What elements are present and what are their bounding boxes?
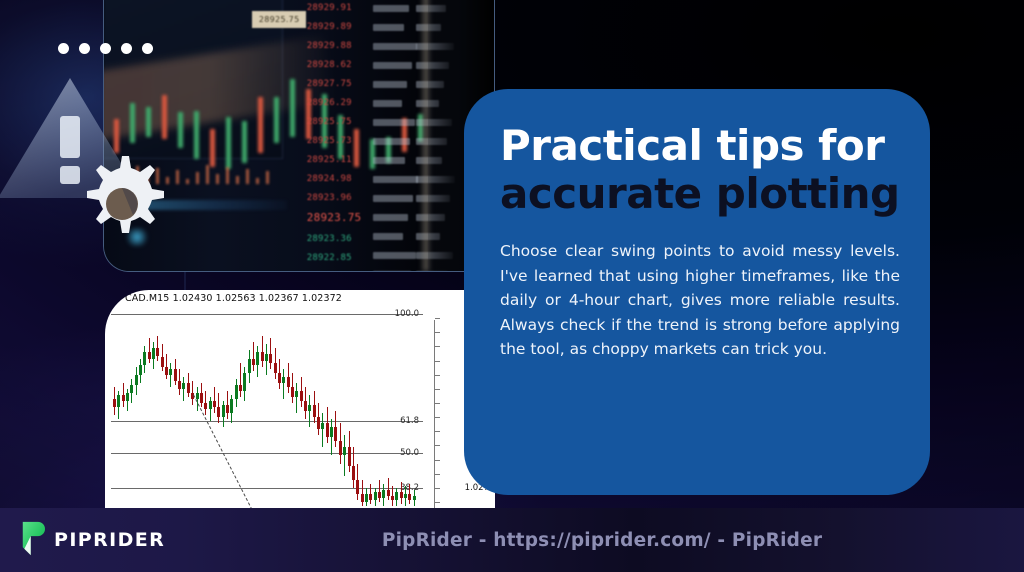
orderbook-size-cell [373, 195, 413, 202]
orderbook-ask-price: 28929.89 [307, 22, 352, 33]
orderbook-last-price: 28923.75 [307, 212, 362, 223]
candle-body [365, 494, 368, 502]
candle-wick [322, 413, 323, 447]
orderbook-ask-price: 28926.29 [307, 98, 352, 109]
candlestick [374, 306, 377, 508]
decorative-dot [121, 43, 132, 54]
candle-body [235, 385, 238, 399]
photo-volume-bar [186, 179, 189, 184]
candle-wick [183, 377, 184, 401]
candle-body [413, 496, 416, 500]
orderbook-size-cell [373, 119, 415, 126]
photo-candle [354, 129, 359, 167]
candlestick [348, 306, 351, 508]
candle-body [274, 363, 277, 373]
orderbook-size-cell [373, 5, 409, 12]
candlestick [352, 306, 355, 508]
tips-content-card: Practical tips for accurate plotting Cho… [464, 89, 930, 495]
candle-body [356, 480, 359, 494]
candlestick [135, 306, 138, 508]
candlestick [248, 306, 251, 508]
axis-tick [435, 403, 440, 404]
candle-wick [170, 363, 171, 387]
candlestick [313, 306, 316, 508]
chart-plot-area: 100.061.850.038.2 1.027 [105, 306, 495, 508]
photo-volume-bar [206, 165, 209, 184]
candle-body [330, 427, 333, 437]
candle-body [204, 403, 207, 409]
candle-body [400, 492, 403, 498]
candlestick [169, 306, 172, 508]
candlestick [408, 306, 411, 508]
candlestick [378, 306, 381, 508]
orderbook-size-cell [373, 252, 416, 259]
candlestick [274, 306, 277, 508]
candlestick [165, 306, 168, 508]
candle-wick [197, 387, 198, 411]
orderbook-bid-price: 28923.36 [307, 234, 352, 245]
candlestick [256, 306, 259, 508]
candlestick [239, 306, 242, 508]
orderbook-size-cell [373, 43, 417, 50]
candlestick [361, 306, 364, 508]
orderbook-ask-price: 28923.96 [307, 193, 352, 204]
candlestick [143, 306, 146, 508]
candlestick [252, 306, 255, 508]
candlestick [209, 306, 212, 508]
candlestick [404, 306, 407, 508]
candlestick [126, 306, 129, 508]
candle-wick [309, 395, 310, 427]
orderbook-ask-price: 28929.88 [307, 41, 352, 52]
candle-body [352, 466, 355, 480]
photo-volume-bar [216, 174, 219, 184]
candlestick [365, 306, 368, 508]
candle-body [408, 494, 411, 500]
axis-tick [435, 346, 440, 347]
candlestick [356, 306, 359, 508]
candle-body [122, 395, 125, 401]
candle-body [348, 447, 351, 465]
candlestick [330, 306, 333, 508]
decorative-dots [58, 43, 153, 54]
candlestick [287, 306, 290, 508]
candlestick [113, 306, 116, 508]
decorative-dot [142, 43, 153, 54]
orderbook-size-cell [373, 62, 412, 69]
candlestick [261, 306, 264, 508]
candle-body [156, 348, 159, 356]
photo-volume-bar [246, 169, 249, 184]
candle-body [256, 352, 259, 364]
fibonacci-chart-card: CAD.M15 1.02430 1.02563 1.02367 1.02372 … [105, 290, 495, 508]
candle-body [265, 354, 268, 360]
candlestick [334, 306, 337, 508]
candlestick [391, 306, 394, 508]
photo-candle [146, 107, 151, 137]
candle-body [374, 492, 377, 500]
orderbook-ask-price: 28927.75 [307, 79, 352, 90]
photo-candle [162, 95, 167, 139]
candle-wick [283, 369, 284, 399]
candle-wick [270, 338, 271, 368]
orderbook-size-cell [373, 214, 408, 221]
orderbook-ask-price: 28928.62 [307, 60, 352, 71]
axis-tick [435, 488, 440, 489]
axis-tick [435, 445, 440, 446]
axis-tick [435, 318, 440, 319]
orderbook-size-cell [373, 233, 403, 240]
decorative-dot [58, 43, 69, 54]
candlestick [122, 306, 125, 508]
orderbook-bid-price: 28922.85 [307, 253, 352, 264]
candle-body [213, 401, 216, 407]
candlestick [130, 306, 133, 508]
candle-body [230, 399, 233, 413]
orderbook-size-cell [416, 271, 448, 272]
candle-body [334, 427, 337, 441]
candle-body [308, 405, 311, 411]
orderbook-ask-price: 28929.91 [307, 3, 352, 14]
candlestick [269, 306, 272, 508]
body-paragraph: Choose clear swing points to avoid messy… [500, 239, 900, 362]
candlestick [304, 306, 307, 508]
candlestick [161, 306, 164, 508]
candle-body [117, 395, 120, 407]
candlestick [191, 306, 194, 508]
decorative-dot [100, 43, 111, 54]
candle-body [209, 401, 212, 409]
candle-body [317, 417, 320, 429]
candle-body [404, 494, 407, 498]
candle-body [239, 385, 242, 391]
orderbook-ask-price: 28924.98 [307, 174, 352, 185]
candle-body [339, 441, 342, 455]
photo-volume-bar [236, 176, 239, 184]
axis-tick [435, 417, 440, 418]
orderbook-ask-price: 28925.75 [307, 117, 352, 128]
title-line-2: accurate plotting [500, 169, 900, 219]
candle-body [143, 352, 146, 364]
candle-body [243, 373, 246, 391]
candlestick [148, 306, 151, 508]
candlestick [265, 306, 268, 508]
photo-volume-bar [226, 167, 229, 184]
candle-body [161, 357, 164, 367]
candlestick [117, 306, 120, 508]
candle-body [369, 494, 372, 500]
candle-body [378, 492, 381, 498]
candle-body [130, 385, 133, 393]
candlestick [196, 306, 199, 508]
candle-body [126, 393, 129, 401]
photo-candle [258, 97, 263, 153]
orderbook-ask-price: 28925.11 [307, 155, 352, 166]
orderbook-size-cell [373, 100, 402, 107]
candlestick [295, 306, 298, 508]
candlestick [213, 306, 216, 508]
candlestick [187, 306, 190, 508]
orderbook-size-cell [373, 271, 411, 272]
candle-wick [262, 336, 263, 366]
candlestick [395, 306, 398, 508]
candle-body [252, 359, 255, 365]
candlestick [413, 306, 416, 508]
axis-tick [435, 474, 440, 475]
axis-tick [435, 389, 440, 390]
candle-body [269, 354, 272, 362]
candle-body [391, 496, 394, 500]
candlestick [156, 306, 159, 508]
candlestick [182, 306, 185, 508]
orderbook-ask-price: 28925.73 [307, 136, 352, 147]
candle-body [248, 359, 251, 373]
candlestick [321, 306, 324, 508]
candlestick [400, 306, 403, 508]
candle-body [313, 405, 316, 417]
candle-body [152, 348, 155, 358]
candlestick [300, 306, 303, 508]
chart-title: CAD.M15 1.02430 1.02563 1.02367 1.02372 [125, 293, 342, 304]
axis-tick [435, 375, 440, 376]
candlestick [178, 306, 181, 508]
chart-price-axis [434, 320, 435, 508]
photo-volume-bar [176, 170, 179, 184]
photo-candle [290, 79, 295, 137]
candle-body [291, 387, 294, 397]
candlestick [222, 306, 225, 508]
axis-tick [435, 332, 440, 333]
candle-body [395, 492, 398, 500]
candle-body [361, 494, 364, 502]
candle-body [304, 401, 307, 411]
candlestick [291, 306, 294, 508]
candle-body [222, 405, 225, 417]
photo-candle [306, 89, 311, 139]
orderbook-size-cell [373, 24, 404, 31]
candle-body [174, 369, 177, 381]
footer-bar: PIPRIDER PipRider - https://piprider.com… [0, 508, 1024, 572]
candle-wick [214, 387, 215, 413]
orderbook-size-cell [373, 157, 405, 164]
photo-volume-bar [196, 172, 199, 184]
candle-body [217, 407, 220, 417]
footer-url-text: PipRider - https://piprider.com/ - PipRi… [0, 530, 1024, 551]
candle-body [200, 393, 203, 403]
candle-body [282, 377, 285, 383]
candlestick [317, 306, 320, 508]
candle-body [261, 352, 264, 360]
candlestick [387, 306, 390, 508]
candlestick [204, 306, 207, 508]
candlestick [174, 306, 177, 508]
axis-tick [435, 361, 440, 362]
candlestick [243, 306, 246, 508]
axis-tick [435, 431, 440, 432]
candlestick [278, 306, 281, 508]
photo-volume-bar [256, 178, 259, 184]
candle-body [343, 447, 346, 455]
axis-tick [435, 460, 440, 461]
candlestick [382, 306, 385, 508]
candle-wick [331, 419, 332, 455]
candle-body [187, 383, 190, 393]
gear-icon [70, 152, 174, 256]
candle-body [278, 373, 281, 383]
candle-wick [362, 480, 363, 506]
candlestick [282, 306, 285, 508]
candle-body [382, 490, 385, 498]
candle-wick [149, 338, 150, 362]
candle-body [139, 365, 142, 375]
candle-wick [240, 363, 241, 397]
page-title: Practical tips for accurate plotting [500, 121, 900, 219]
candle-wick [388, 478, 389, 500]
candlestick [308, 306, 311, 508]
orderbook-size-cell [373, 176, 418, 183]
candle-body [169, 369, 172, 375]
orderbook-size-cell [373, 138, 410, 145]
candlestick [343, 306, 346, 508]
candle-wick [253, 342, 254, 370]
candlestick [326, 306, 329, 508]
candle-body [178, 381, 181, 389]
candlestick [230, 306, 233, 508]
candle-body [300, 391, 303, 401]
candlestick [226, 306, 229, 508]
candlestick [369, 306, 372, 508]
candle-body [165, 367, 168, 375]
photo-price-tag: 28925.75 [252, 11, 306, 28]
candle-wick [296, 383, 297, 413]
candle-body [113, 399, 116, 407]
candle-body [295, 391, 298, 397]
candlestick [152, 306, 155, 508]
photo-candle [178, 112, 183, 148]
candlestick [139, 306, 142, 508]
candle-body [326, 423, 329, 437]
candle-body [182, 383, 185, 389]
candle-body [287, 377, 290, 387]
decorative-dot [79, 43, 90, 54]
title-line-1: Practical tips for [500, 121, 900, 171]
candle-body [387, 490, 390, 496]
orderbook-size-cell [373, 81, 407, 88]
candle-body [135, 375, 138, 385]
candlestick [217, 306, 220, 508]
candle-wick [379, 480, 380, 502]
candle-body [321, 423, 324, 429]
photo-candle [274, 97, 279, 143]
axis-tick [435, 502, 440, 503]
candlestick [339, 306, 342, 508]
candle-body [226, 405, 229, 413]
photo-volume-bar [266, 171, 269, 184]
candle-body [148, 352, 151, 358]
